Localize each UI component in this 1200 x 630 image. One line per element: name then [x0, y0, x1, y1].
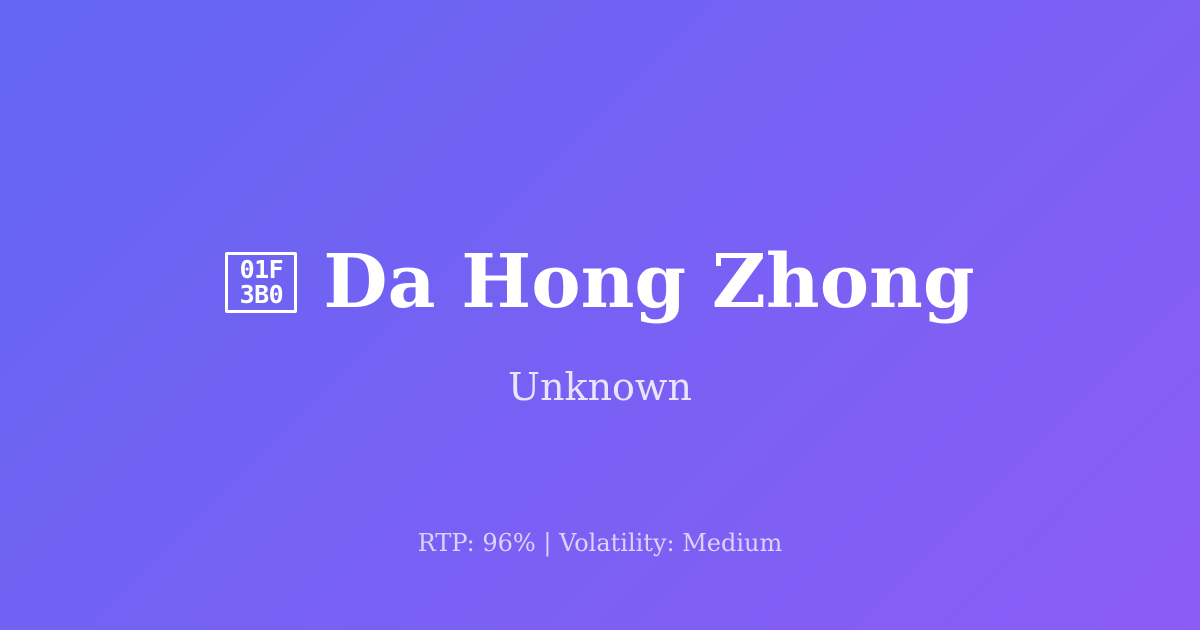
provider-subtitle: Unknown [0, 364, 1200, 410]
game-meta-line: RTP: 96% | Volatility: Medium [0, 528, 1200, 558]
page-title: Da Hong Zhong [323, 244, 974, 320]
tofu-codepoint-bottom: 3B0 [240, 282, 284, 307]
hero-row: 01F 3B0 Da Hong Zhong [0, 244, 1200, 320]
og-preview-card: 01F 3B0 Da Hong Zhong Unknown RTP: 96% |… [0, 0, 1200, 630]
slot-machine-icon: 01F 3B0 [225, 252, 297, 313]
tofu-codepoint-top: 01F [240, 257, 284, 282]
